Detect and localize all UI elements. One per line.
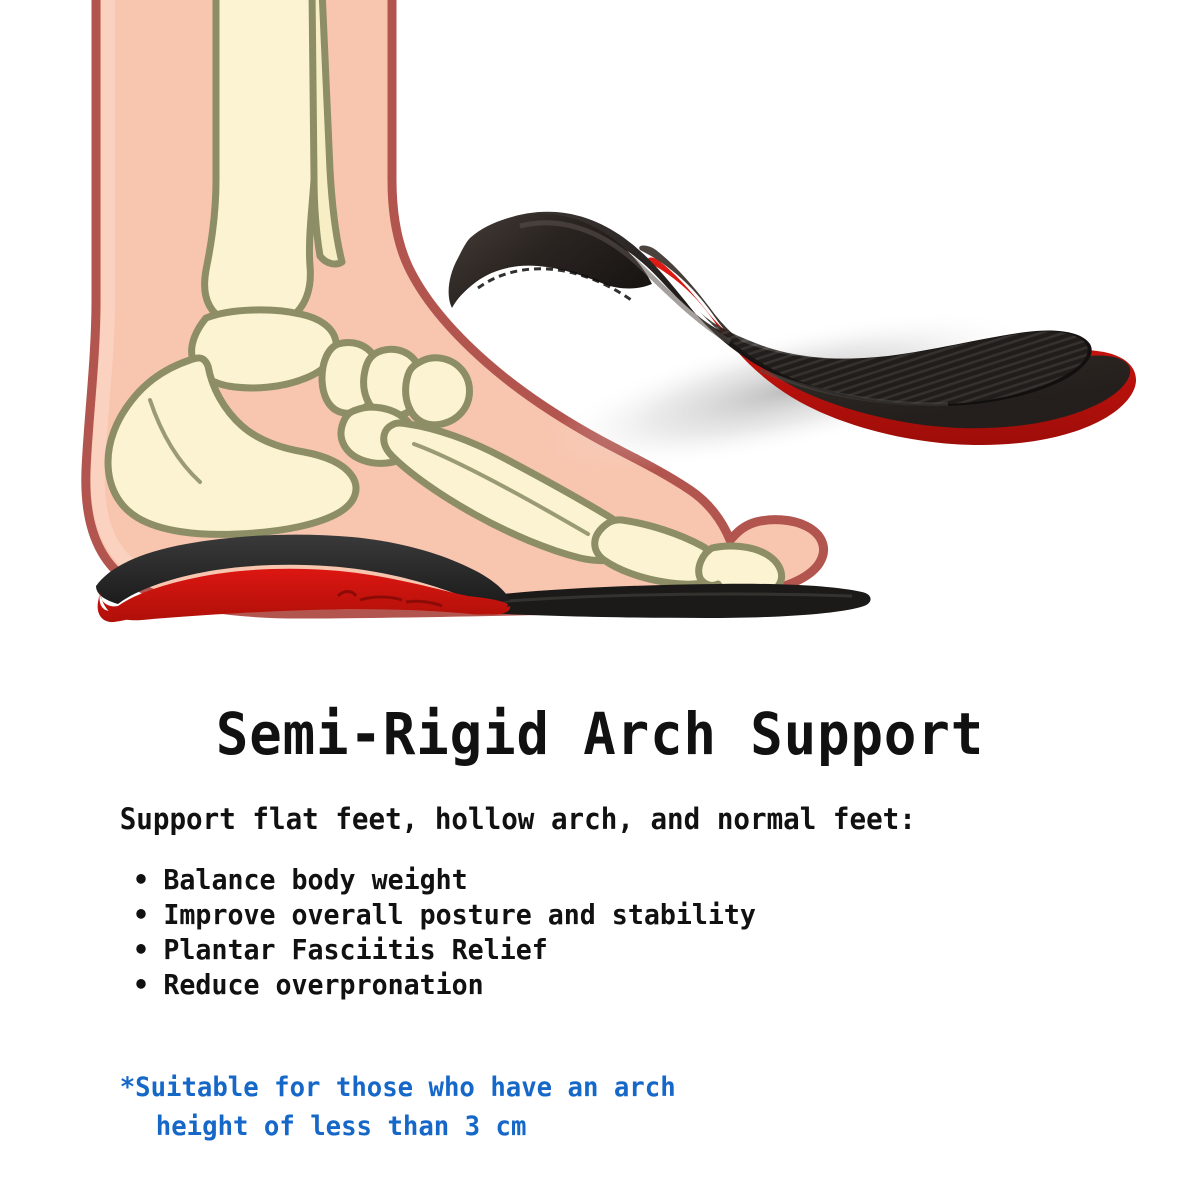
foot-anatomy-diagram [86, 0, 871, 622]
tibia-bone [205, 0, 320, 328]
bullet-icon: • [133, 967, 149, 1002]
list-item-label: Balance body weight [163, 863, 467, 896]
suitability-note: *Suitable for those who have an arch hei… [0, 1002, 1140, 1146]
list-item: • Balance body weight [133, 862, 1147, 897]
suitability-note-line-2: height of less than 3 cm [120, 1107, 1140, 1146]
cuneiform-bone-2 [406, 358, 470, 425]
bullet-icon: • [133, 862, 149, 897]
list-item: • Reduce overpronation [133, 967, 1147, 1002]
list-item: • Improve overall posture and stability [133, 897, 1147, 932]
bullet-icon: • [133, 932, 149, 967]
insole-heel-cup [449, 214, 652, 308]
illustration-area [0, 0, 1200, 660]
list-item: • Plantar Fasciitis Relief [133, 932, 1147, 967]
list-item-label: Improve overall posture and stability [163, 898, 756, 931]
text-block: Semi-Rigid Arch Support Support flat fee… [0, 660, 1200, 1146]
list-item-label: Reduce overpronation [163, 968, 483, 1001]
page-title: Semi-Rigid Arch Support [42, 660, 1158, 768]
subheading: Support flat feet, hollow arch, and norm… [0, 768, 1140, 836]
benefits-list: • Balance body weight • Improve overall … [0, 836, 1200, 1002]
bullet-icon: • [133, 897, 149, 932]
list-item-label: Plantar Fasciitis Relief [163, 933, 547, 966]
product-infographic: Semi-Rigid Arch Support Support flat fee… [0, 0, 1200, 1200]
suitability-note-line-1: *Suitable for those who have an arch [120, 1072, 676, 1103]
